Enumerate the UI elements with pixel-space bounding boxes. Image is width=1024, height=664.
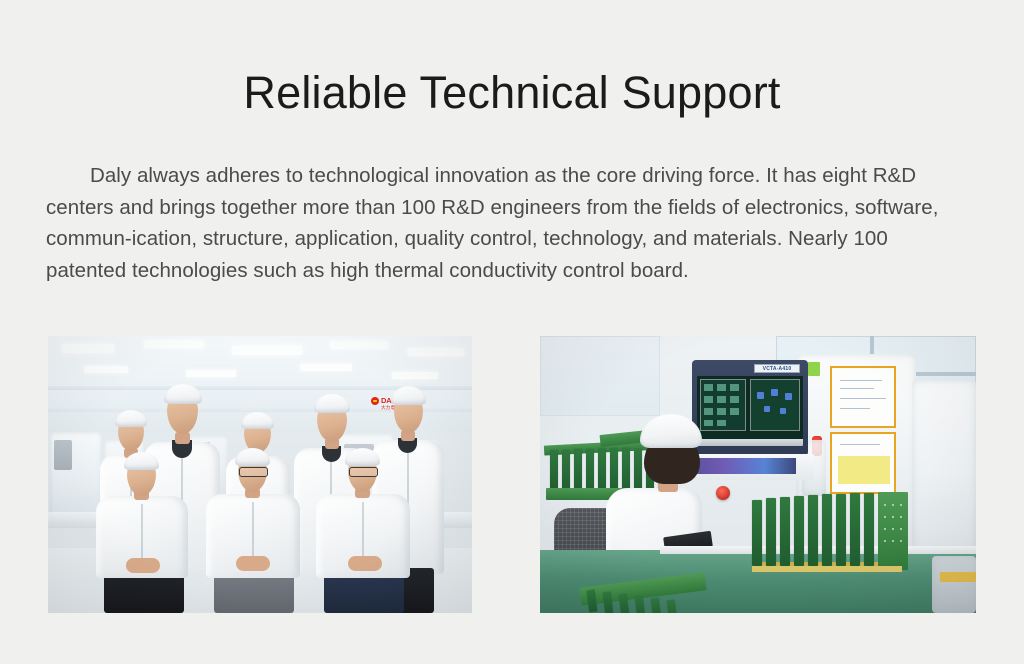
description-paragraph: Daly always adheres to technological inn…: [46, 160, 966, 286]
person-hands: [126, 558, 160, 573]
person-glasses: [349, 467, 378, 477]
document-holder: [830, 432, 896, 494]
window: [540, 336, 660, 416]
status-light-green: [808, 362, 820, 376]
team-photo: DALY 大力电子: [48, 336, 472, 613]
pcb-panel-foreground: [580, 576, 710, 613]
ceiling-light: [392, 372, 438, 379]
photo-row: DALY 大力电子: [48, 336, 976, 613]
ceiling-light: [330, 341, 388, 349]
caution-stripe: [940, 572, 976, 582]
document-holder: [830, 366, 896, 428]
ceiling-light: [84, 366, 128, 373]
equipment-panel: [54, 440, 72, 470]
highlighted-area: [838, 456, 890, 484]
monitor: VCTA-A410: [692, 360, 808, 456]
machine-label: VCTA-A410: [754, 364, 800, 373]
ceiling-light: [186, 370, 236, 377]
pcb-rack: [746, 486, 926, 578]
daly-mark-icon: [371, 397, 379, 405]
person-hands: [348, 556, 382, 571]
ceiling-light: [408, 348, 464, 356]
slide-root: Reliable Technical Support Daly always a…: [0, 0, 1024, 664]
machine-base: [932, 556, 976, 613]
person-hands: [236, 556, 270, 571]
production-line-photo: VCTA-A410: [540, 336, 976, 613]
ceiling-light: [232, 346, 302, 355]
page-title: Reliable Technical Support: [0, 68, 1024, 118]
ceiling-light: [62, 344, 114, 353]
ceiling-light: [144, 340, 204, 348]
monitor-screen: [697, 376, 803, 446]
person-glasses: [239, 467, 268, 477]
emergency-stop-button[interactable]: [716, 486, 730, 500]
ceiling-light: [300, 364, 352, 371]
